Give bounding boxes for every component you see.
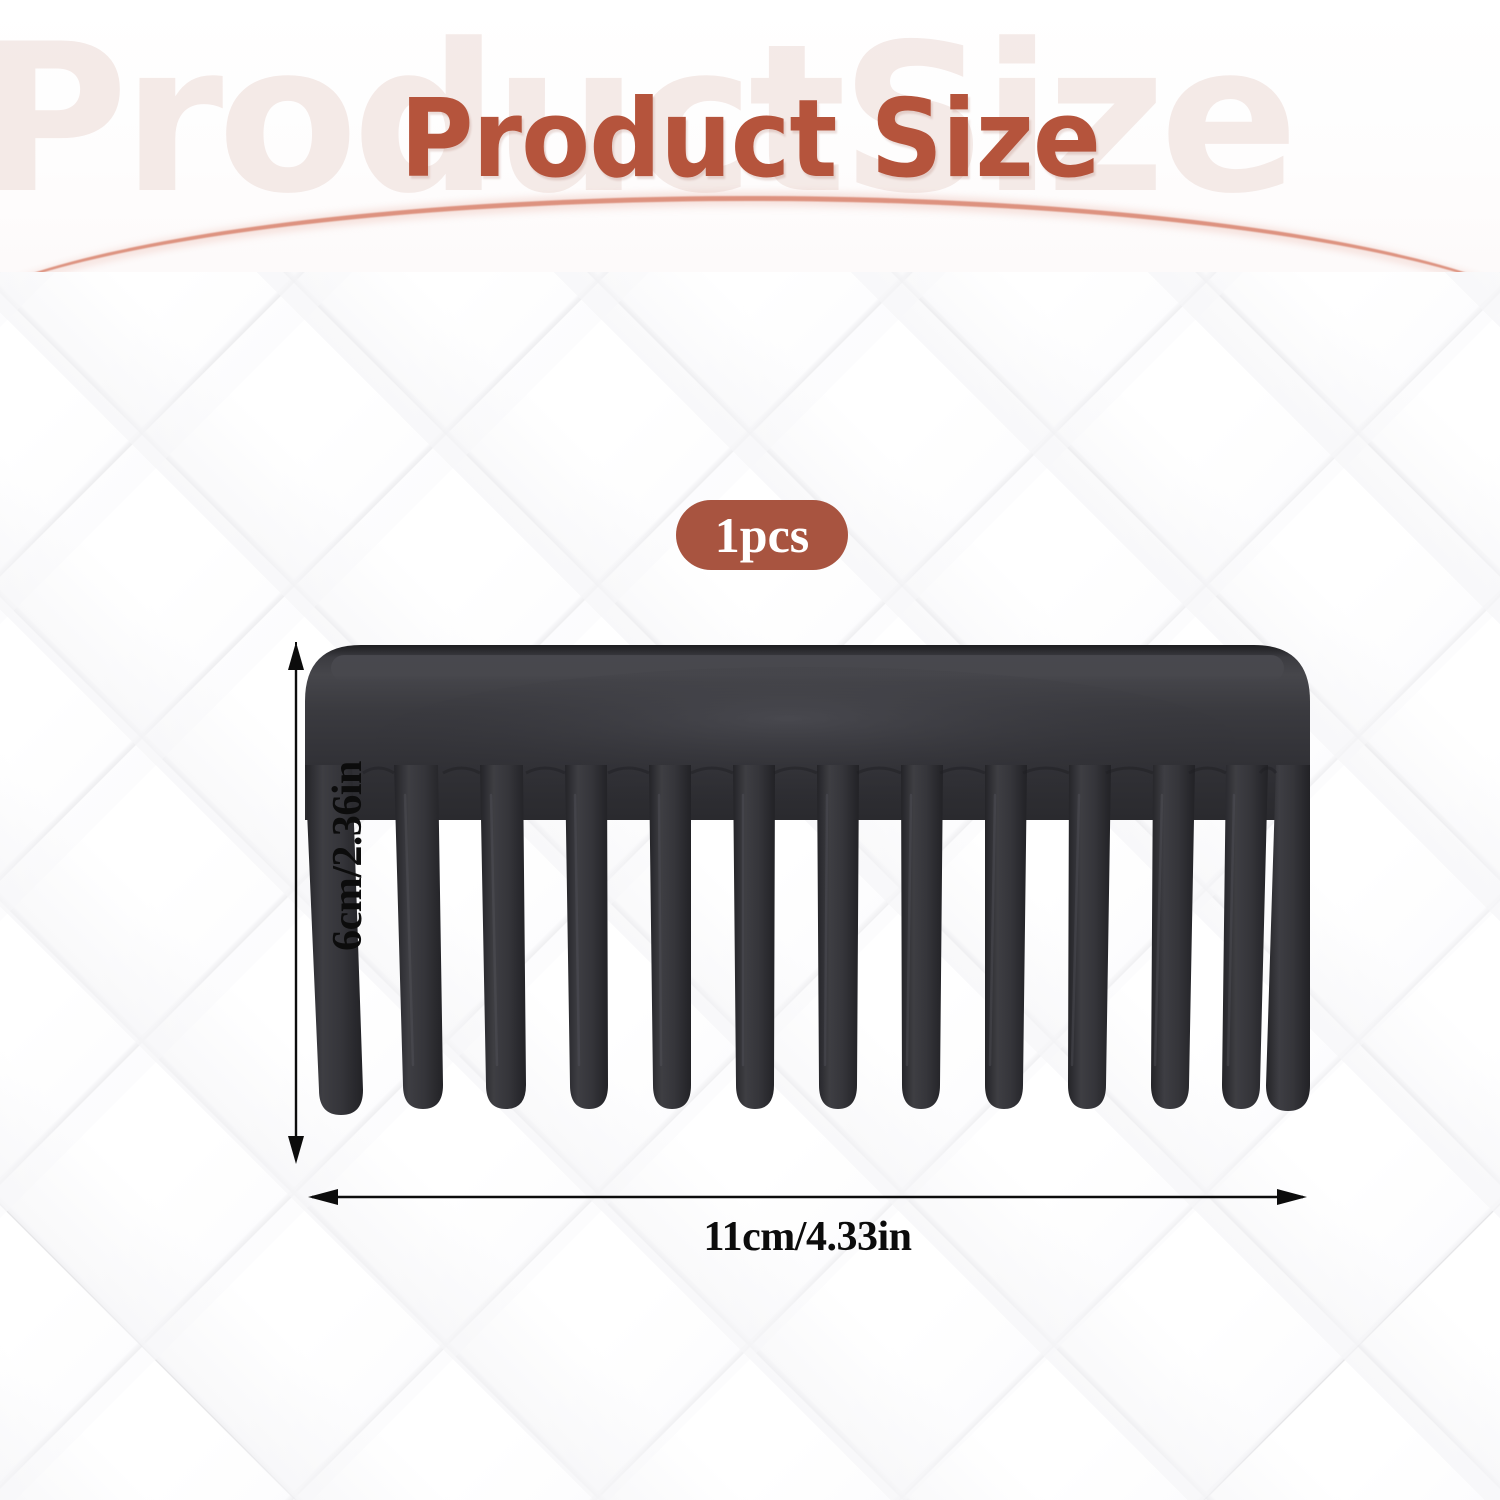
page-title: Product Size xyxy=(53,86,1448,194)
dimension-width-label: 11cm/4.33in xyxy=(300,1213,1315,1261)
header-banner: ProductSize Product Size xyxy=(0,0,1500,272)
dimension-width-arrow xyxy=(300,1175,1315,1215)
dimension-width: 11cm/4.33in xyxy=(300,1175,1315,1285)
product-size-infographic: ProductSize Product Size 1pcs xyxy=(0,0,1500,1500)
product-image-comb xyxy=(305,645,1310,1175)
dimension-height-label: 6cm/2.36in xyxy=(324,726,372,986)
quantity-badge: 1pcs xyxy=(676,500,848,570)
dimension-height: 6cm/2.36in xyxy=(258,640,328,1170)
comb-svg xyxy=(305,645,1310,1175)
dimension-height-arrow xyxy=(258,640,328,1170)
